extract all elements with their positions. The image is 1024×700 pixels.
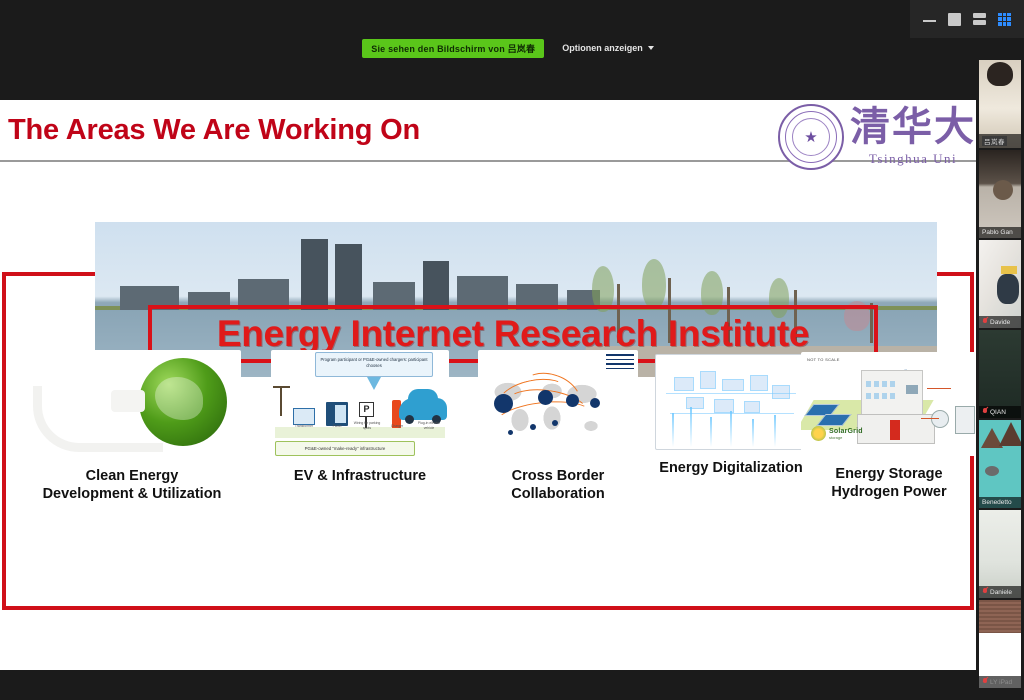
participant-name-row: LY iPad [979, 676, 1021, 688]
show-options-label: Optionen anzeigen [562, 43, 643, 53]
tsinghua-seal-icon: ★ [778, 104, 844, 170]
mic-muted-icon [982, 588, 988, 596]
participant-tile[interactable]: Benedetto [979, 420, 1021, 508]
mic-muted-icon [982, 318, 988, 326]
participant-name: Benedetto [982, 499, 1012, 506]
participant-name-row: Pablo Gan [979, 227, 1021, 238]
area-label: Cross Border Collaboration [511, 467, 604, 503]
view-controls [910, 0, 1024, 38]
participant-tile[interactable]: LY iPad [979, 600, 1021, 688]
shared-slide: The Areas We Are Working On ★ 清华大 Tsingh… [0, 100, 976, 670]
participant-strip[interactable]: 吕岚春 Pablo Gan Davide QIAN [976, 58, 1024, 700]
participant-name: QIAN [990, 409, 1006, 416]
chevron-down-icon [648, 46, 654, 50]
share-notice: Sie sehen den Bildschirm von 吕岚春 [362, 39, 544, 58]
area-clean-energy[interactable]: Clean Energy Development & Utilization [10, 350, 254, 503]
participant-name-row: Davide [979, 316, 1021, 328]
page-title: The Areas We Are Working On [8, 114, 420, 147]
participant-name-row: Daniele [979, 586, 1021, 598]
ev-callout-text: Program participant or PG&E-owned charge… [315, 352, 433, 377]
banner-title: Energy Internet Research Institute [217, 313, 809, 355]
digital-city-image [655, 354, 807, 450]
participant-tile[interactable]: 吕岚春 [979, 60, 1021, 148]
ev-part-vehicle: Plug-in electric vehicle [414, 421, 444, 430]
area-label: EV & Infrastructure [294, 467, 426, 485]
solargrid-sub: storage [829, 435, 863, 440]
not-to-scale-note: NOT TO SCALE [807, 357, 840, 362]
participant-tile[interactable]: Daniele [979, 510, 1021, 598]
area-label: Energy Digitalization [659, 459, 802, 477]
solargrid-badge: SolarGrid storage [811, 426, 873, 444]
tsinghua-logo: ★ 清华大 Tsinghua Uni [778, 104, 976, 170]
ev-part-wiring: Wiring for parking spots [352, 421, 382, 430]
split-view-icon[interactable] [973, 13, 986, 26]
sun-icon [811, 426, 826, 441]
minimize-icon[interactable] [923, 13, 936, 26]
area-cross-border[interactable]: Cross Border Collaboration [466, 350, 650, 503]
mic-muted-icon [982, 678, 988, 686]
mic-muted-icon [982, 408, 988, 416]
participant-name: Davide [990, 319, 1010, 326]
world-map-image [478, 350, 638, 458]
parking-sign-icon: P [359, 402, 374, 417]
logo-text-block: 清华大 Tsinghua Uni [850, 107, 976, 167]
zoom-meeting-window: Sie sehen den Bildschirm von 吕岚春 Optione… [0, 0, 1024, 700]
area-energy-digitalization[interactable]: Energy Digitalization [650, 350, 812, 477]
ev-part-panel: Panel [322, 424, 352, 428]
logo-english-text: Tsinghua Uni [869, 151, 957, 167]
participant-name: Pablo Gan [982, 229, 1013, 236]
solar-storage-image: NOT TO SCALE [801, 352, 976, 456]
areas-row: Clean Energy Development & Utilization P… [10, 350, 966, 510]
show-options-button[interactable]: Optionen anzeigen [554, 40, 662, 56]
participant-name-row: Benedetto [979, 497, 1021, 508]
participant-name: LY iPad [990, 679, 1012, 686]
participant-name: Daniele [990, 589, 1012, 596]
ev-part-transformer: Transformer [289, 424, 319, 428]
screen-share-bar: Sie sehen den Bildschirm von 吕岚春 Optione… [0, 38, 1024, 58]
area-ev-infrastructure[interactable]: Program participant or PG&E-owned charge… [254, 350, 466, 485]
area-label: Energy Storage Hydrogen Power [831, 465, 946, 501]
gallery-view-icon[interactable] [998, 13, 1011, 26]
ev-part-charger: Charger [382, 424, 412, 428]
participant-tile[interactable]: Pablo Gan [979, 150, 1021, 238]
window-topbar [0, 0, 1024, 38]
solargrid-brand: SolarGrid [829, 428, 863, 435]
seal-star-icon: ★ [804, 128, 817, 146]
ev-diagram-image: Program participant or PG&E-owned charge… [271, 350, 449, 458]
area-energy-storage[interactable]: NOT TO SCALE [812, 350, 966, 501]
ev-footer-text: PG&E-owned “make-ready” infrastructure [275, 441, 415, 456]
participant-name: 吕岚春 [982, 136, 1007, 146]
logo-chinese-text: 清华大 [850, 107, 976, 147]
participant-name-row: 吕岚春 [979, 134, 1021, 148]
participant-name-row: QIAN [979, 406, 1021, 418]
single-view-icon[interactable] [948, 13, 961, 26]
area-label: Clean Energy Development & Utilization [43, 467, 222, 503]
participant-tile[interactable]: QIAN [979, 330, 1021, 418]
green-globe-plug-image [23, 350, 241, 458]
participant-tile[interactable]: Davide [979, 240, 1021, 328]
